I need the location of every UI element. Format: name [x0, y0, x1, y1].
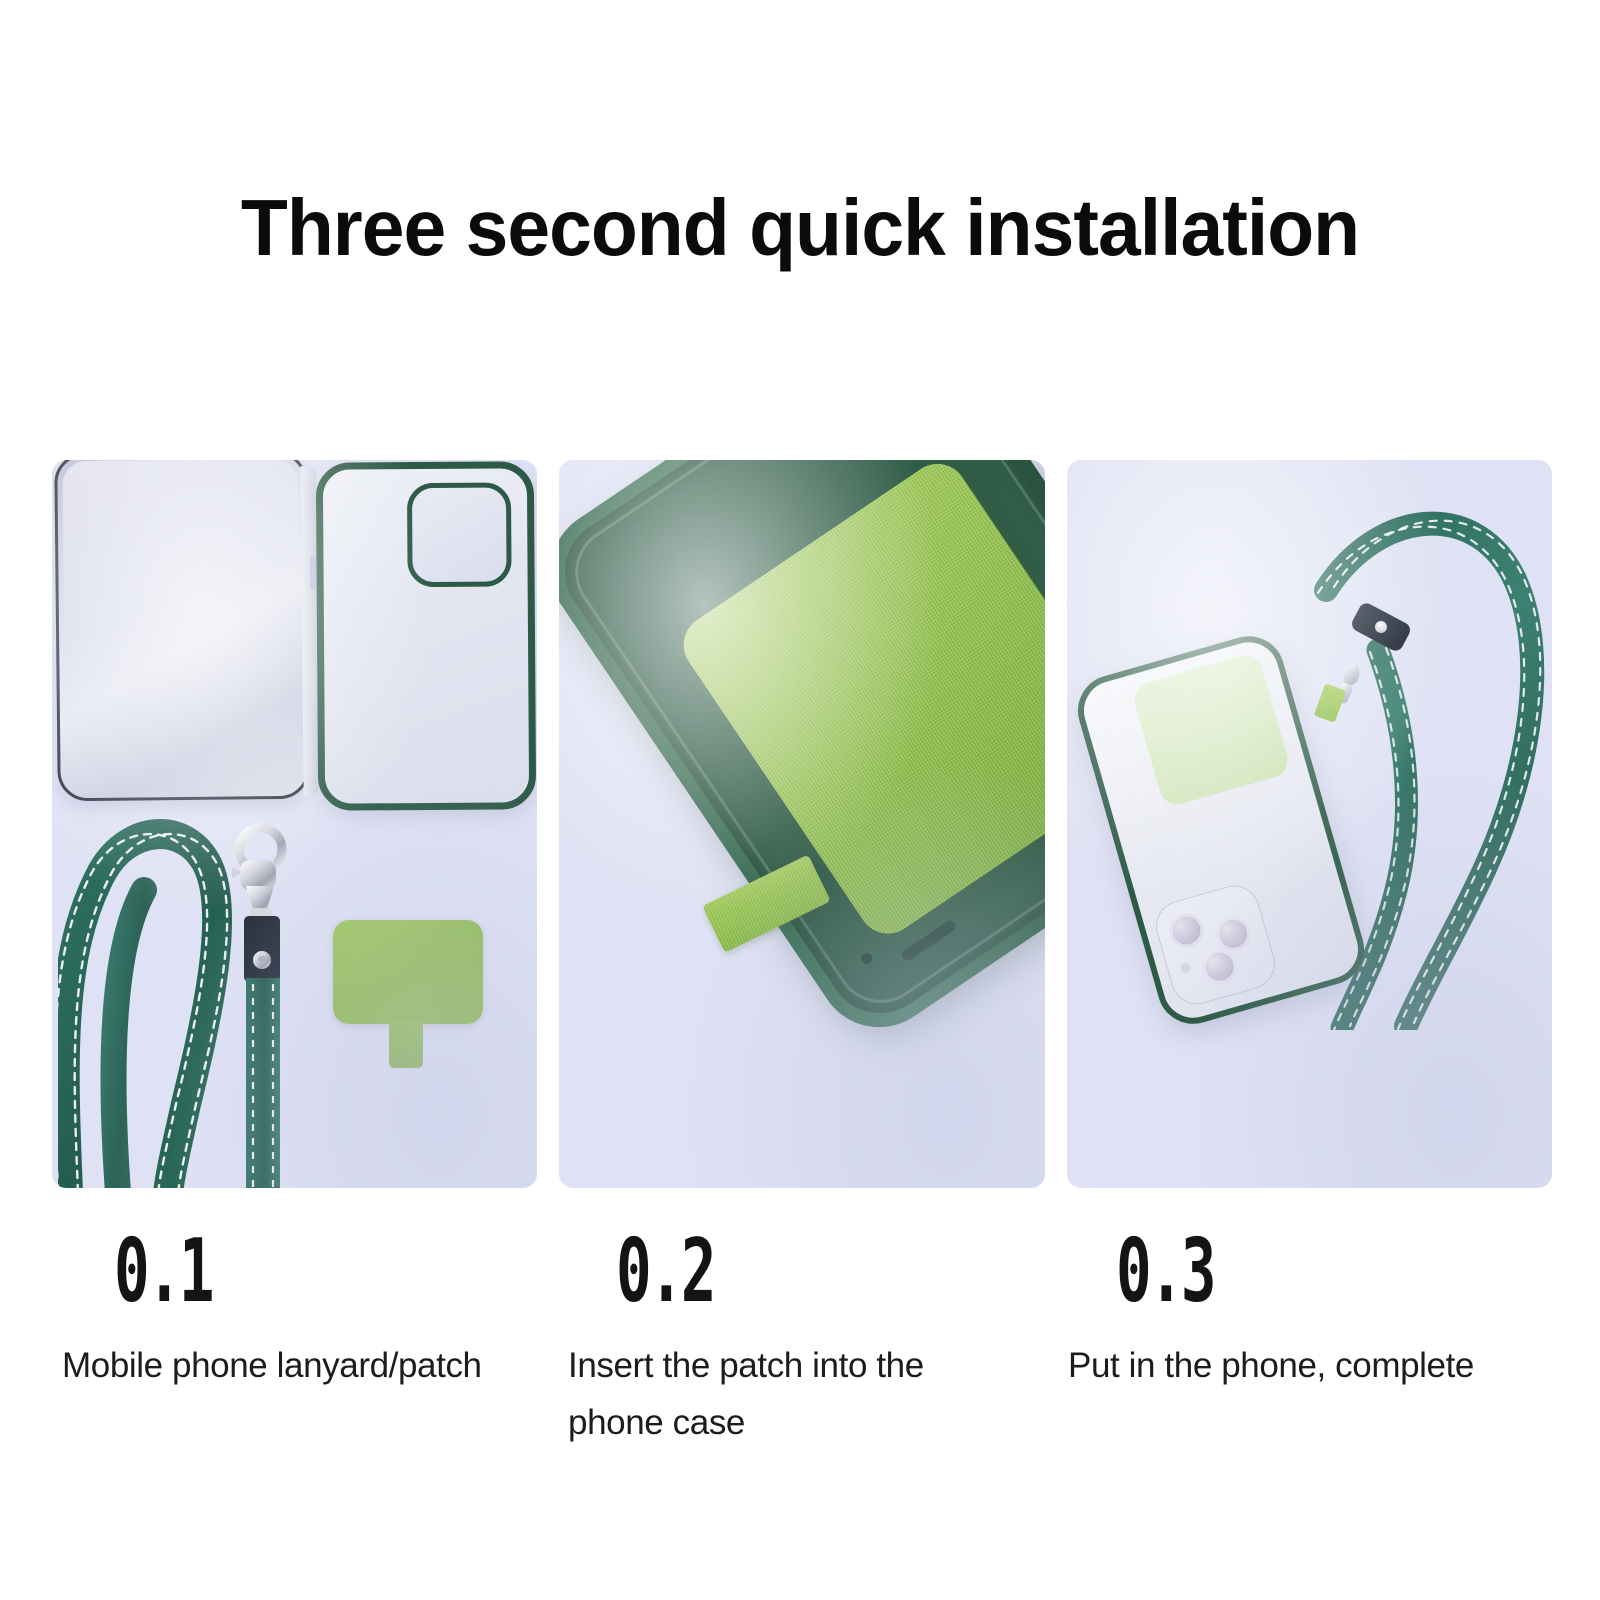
camera-lens — [1212, 913, 1254, 955]
step-text-3: Put in the phone, complete — [1068, 1338, 1498, 1395]
step-caption-1: 0.1 Mobile phone lanyard/patch — [52, 1228, 538, 1528]
green-phone-case-image — [559, 460, 1044, 1068]
steps-caption-row: 0.1 Mobile phone lanyard/patch 0.2 Inser… — [52, 1228, 1552, 1528]
steps-image-row — [52, 460, 1552, 1188]
lobster-clasp-icon — [232, 828, 282, 918]
case-camera-cutout — [407, 482, 512, 587]
step-text-2: Insert the patch into the phone case — [568, 1338, 998, 1451]
camera-lens — [1165, 909, 1207, 951]
step-number-1: 0.1 — [114, 1228, 211, 1315]
patch-tab — [389, 1020, 423, 1068]
step-number-3: 0.3 — [1116, 1228, 1213, 1315]
step-caption-2: 0.2 Insert the patch into the phone case — [560, 1228, 1044, 1528]
clear-phone-case-image — [316, 461, 536, 811]
wrist-strap-with-clasp-image — [202, 820, 322, 1188]
page-title: Three second quick installation — [32, 182, 1568, 274]
step-image-1 — [52, 460, 537, 1188]
patch-visible-through-case — [1130, 651, 1292, 809]
step-number-2: 0.2 — [616, 1228, 713, 1315]
camera-lens — [1198, 946, 1240, 988]
step-image-2 — [559, 460, 1044, 1188]
phone-front-image — [54, 460, 310, 801]
camera-flash — [1179, 962, 1191, 974]
patch-body — [333, 920, 483, 1024]
case-frame — [559, 460, 1044, 1051]
phone-side-button — [310, 556, 316, 590]
step-caption-3: 0.3 Put in the phone, complete — [1066, 1228, 1552, 1528]
step-image-3 — [1067, 460, 1552, 1188]
green-patch-image — [333, 920, 483, 1070]
step-text-1: Mobile phone lanyard/patch — [62, 1338, 492, 1395]
triple-camera-module — [1150, 879, 1281, 1010]
